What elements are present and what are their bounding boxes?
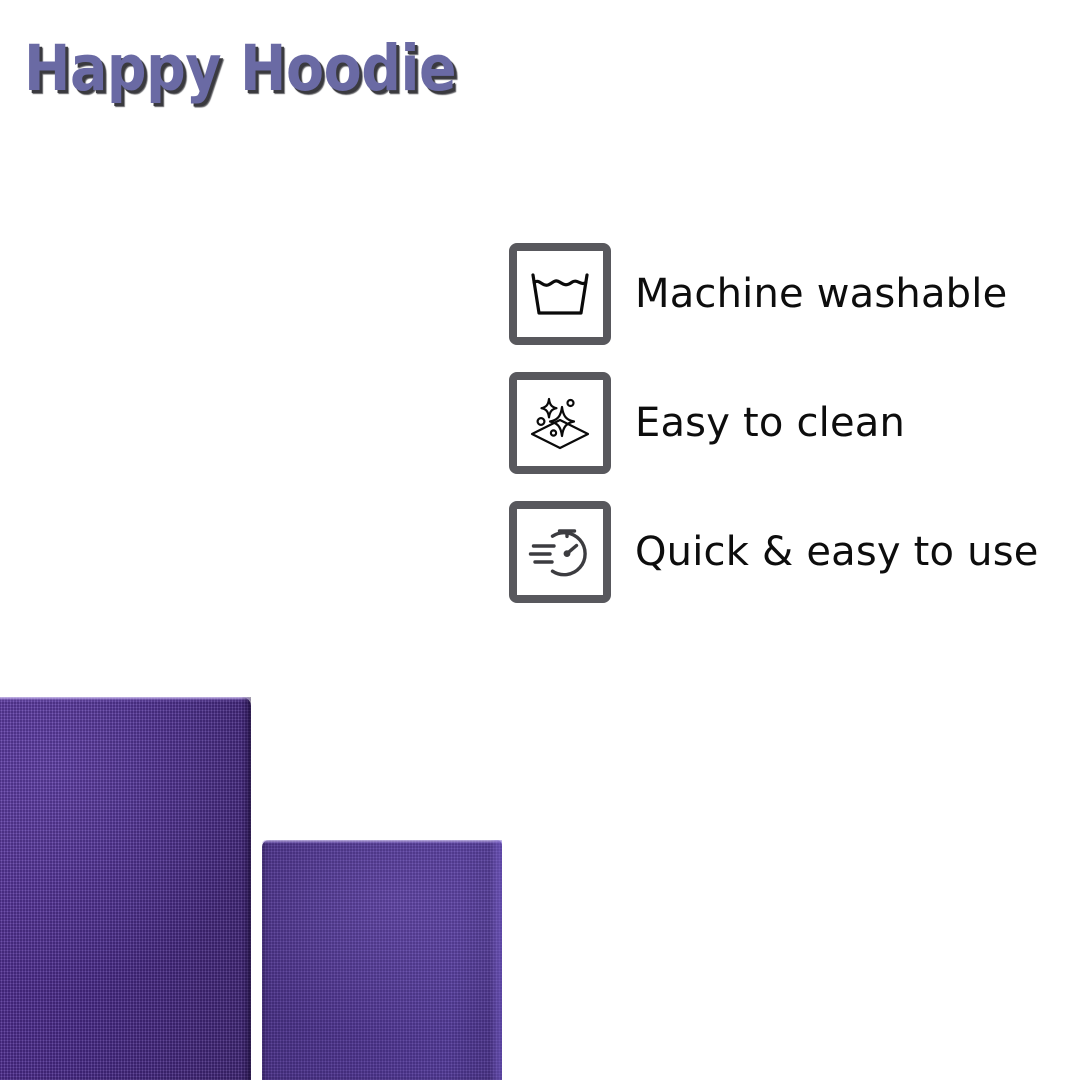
product-infographic: Happy Hoodie Machine washable — [0, 0, 1080, 1080]
feature-item-easy-to-clean: Easy to clean — [509, 372, 1049, 474]
product-photo — [0, 660, 540, 1080]
feature-label: Quick & easy to use — [635, 529, 1039, 575]
page-title: Happy Hoodie — [24, 33, 456, 105]
sparkle-surface-icon-box — [509, 372, 611, 474]
feature-label: Machine washable — [635, 271, 1007, 317]
feature-item-quick-easy: Quick & easy to use — [509, 501, 1049, 603]
large-cloth — [0, 697, 251, 1080]
stopwatch-speed-icon-box — [509, 501, 611, 603]
feature-label: Easy to clean — [635, 400, 905, 446]
feature-list: Machine washable — [509, 243, 1049, 603]
washtub-icon-box — [509, 243, 611, 345]
feature-item-machine-washable: Machine washable — [509, 243, 1049, 345]
small-cloth — [262, 840, 502, 1080]
washtub-icon — [529, 269, 591, 319]
stopwatch-speed-icon — [527, 523, 593, 581]
sparkle-surface-icon — [529, 394, 591, 452]
